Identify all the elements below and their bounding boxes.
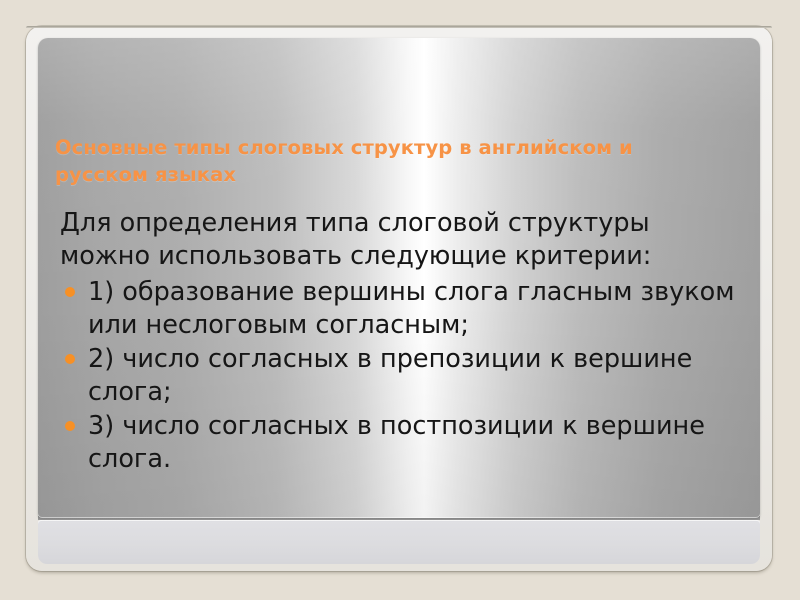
bullet-dot-icon bbox=[65, 354, 75, 364]
list-item: 1) образование вершины слога гласным зву… bbox=[60, 276, 750, 342]
criteria-bullet-list: 1) образование вершины слога гласным зву… bbox=[60, 276, 750, 477]
slide-frame: Основные типы слоговых структур в англий… bbox=[26, 26, 772, 571]
slide-content-panel: Основные типы слоговых структур в англий… bbox=[38, 38, 760, 518]
frame-top-hairline bbox=[26, 26, 772, 28]
slide-text-block: Основные типы слоговых структур в англий… bbox=[38, 38, 760, 518]
list-item: 3) число согласных в постпозиции к верши… bbox=[60, 410, 750, 476]
bullet-dot-icon bbox=[65, 421, 75, 431]
list-item-text: 1) образование вершины слога гласным зву… bbox=[88, 277, 734, 340]
list-item: 2) число согласных в препозиции к вершин… bbox=[60, 343, 750, 409]
bullet-dot-icon bbox=[65, 287, 75, 297]
list-item-text: 2) число согласных в препозиции к вершин… bbox=[88, 344, 692, 407]
slide-title: Основные типы слоговых структур в англий… bbox=[55, 134, 715, 188]
intro-paragraph: Для определения типа слоговой структуры … bbox=[60, 207, 740, 273]
list-item-text: 3) число согласных в постпозиции к верши… bbox=[88, 411, 705, 474]
slide-reflection-strip bbox=[38, 520, 760, 564]
